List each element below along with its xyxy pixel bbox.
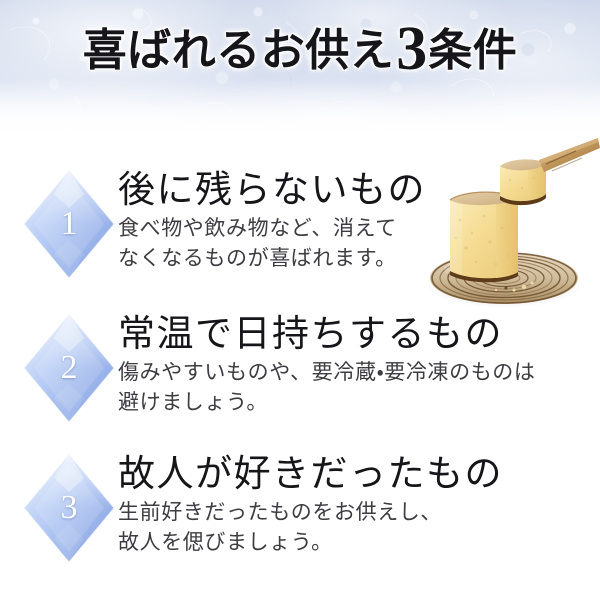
page-title-number: 3	[396, 15, 427, 83]
description-line: 食べ物や飲み物など、消えて	[118, 214, 582, 244]
condition-heading: 故人が好きだったもの	[118, 454, 582, 495]
page-title-suffix: 条件	[428, 26, 517, 75]
condition-text-1: 後に残らないもの 食べ物や飲み物など、消えて なくなるものが喜ばれます。	[118, 168, 582, 274]
diamond-badge-icon	[22, 452, 116, 568]
infographic-page: 喜ばれるお供え3条件	[0, 0, 600, 600]
condition-text-2: 常温で日持ちするもの 傷みやすいものや、要冷蔵・要冷凍のものは 避けましょう。	[118, 312, 582, 418]
condition-item-3: 3 故人が好きだったもの 生前好きだったものをお供えし、 故人を偲びましょう。	[22, 452, 582, 568]
description-line: 避けましょう。	[118, 388, 582, 418]
condition-description: 生前好きだったものをお供えし、 故人を偲びましょう。	[118, 498, 582, 558]
page-title: 喜ばれるお供え3条件	[0, 26, 600, 77]
condition-description: 食べ物や飲み物など、消えて なくなるものが喜ばれます。	[118, 214, 582, 274]
diamond-badge-icon	[22, 312, 116, 428]
number-badge-3: 3	[22, 452, 116, 568]
number-badge-1: 1	[22, 168, 116, 284]
number-badge-2: 2	[22, 312, 116, 428]
description-line: 故人を偲びましょう。	[118, 528, 582, 558]
condition-item-2: 2 常温で日持ちするもの 傷みやすいものや、要冷蔵・要冷凍のものは 避けましょう…	[22, 312, 582, 428]
condition-item-1: 1 後に残らないもの 食べ物や飲み物など、消えて なくなるものが喜ばれます。	[22, 168, 582, 284]
description-line: 生前好きだったものをお供えし、	[118, 498, 582, 528]
diamond-badge-icon	[22, 168, 116, 284]
page-title-prefix: 喜ばれるお供え	[83, 26, 395, 75]
condition-heading: 常温で日持ちするもの	[118, 314, 582, 355]
condition-text-3: 故人が好きだったもの 生前好きだったものをお供えし、 故人を偲びましょう。	[118, 452, 582, 558]
description-line: 傷みやすいものや、要冷蔵・要冷凍のものは	[118, 358, 582, 388]
condition-heading: 後に残らないもの	[118, 170, 582, 211]
description-line: なくなるものが喜ばれます。	[118, 244, 582, 274]
condition-description: 傷みやすいものや、要冷蔵・要冷凍のものは 避けましょう。	[118, 358, 582, 418]
